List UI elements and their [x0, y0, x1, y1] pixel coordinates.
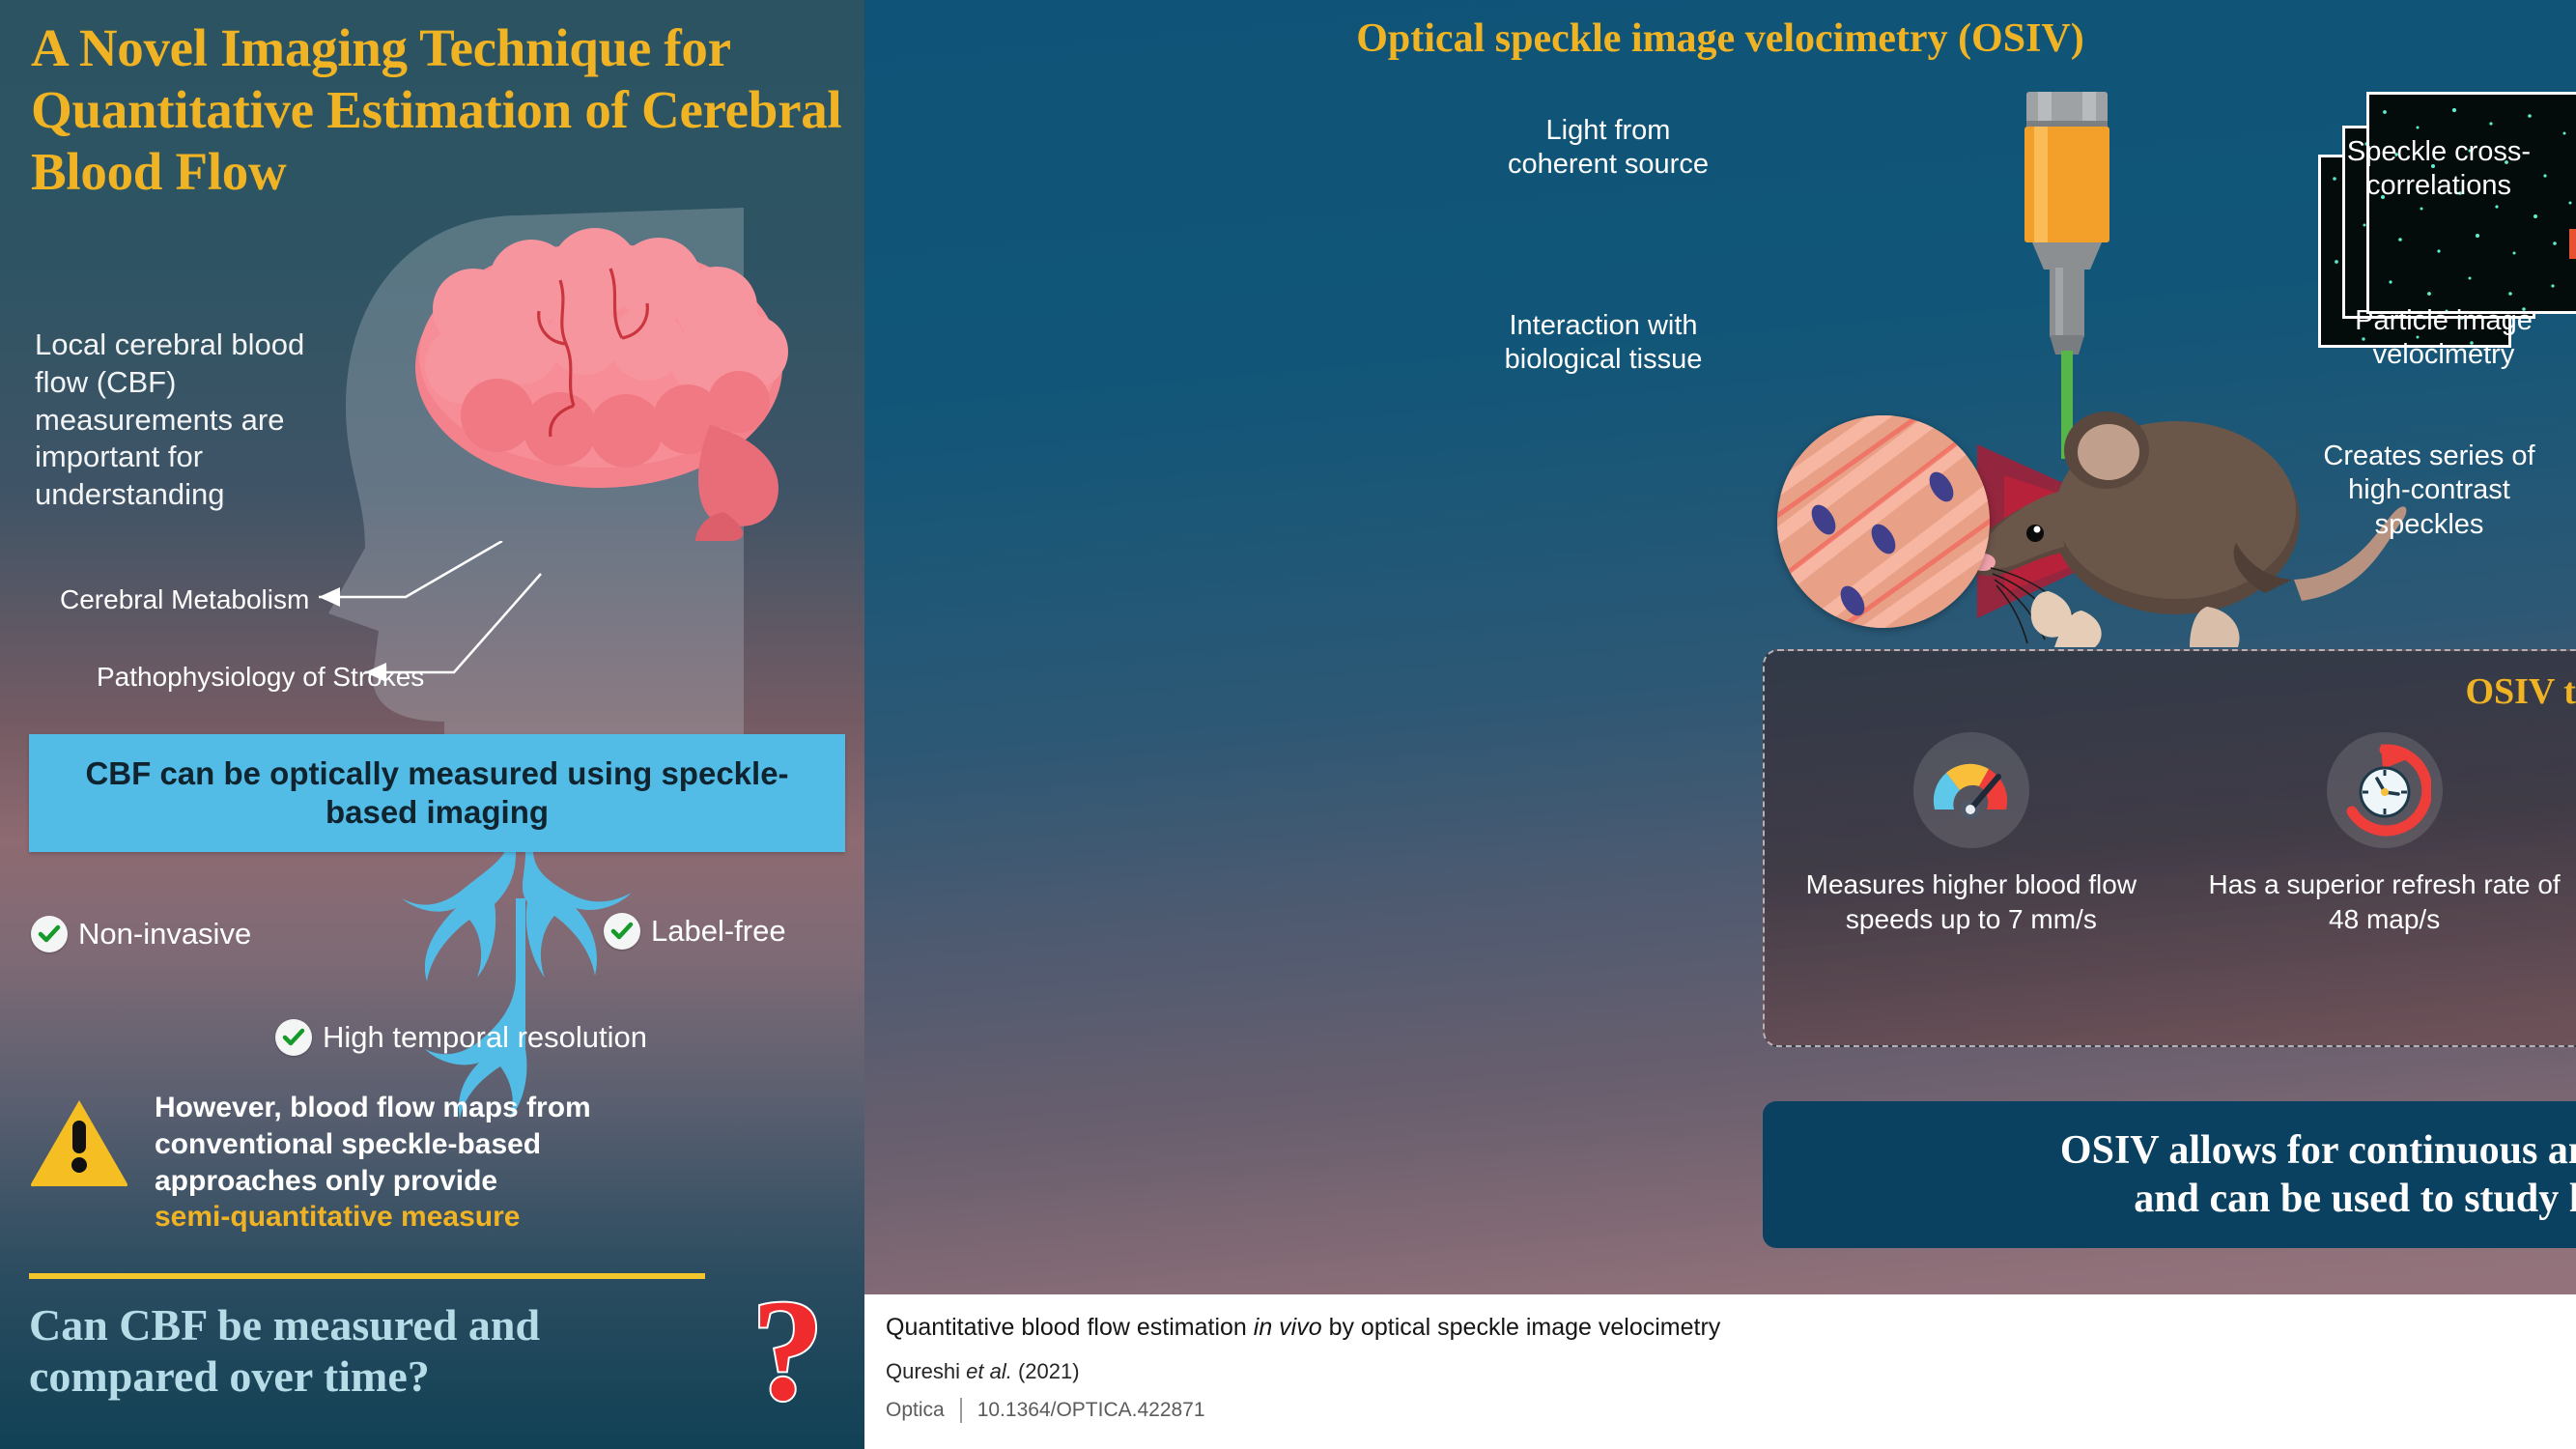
label-particle-image-velocimetry: Particle image velocimetry [2333, 304, 2555, 373]
citation-block: Quantitative blood flow estimation in vi… [886, 1312, 2141, 1423]
paper-title-pre: Quantitative blood flow estimation [886, 1314, 1254, 1341]
left-column: A Novel Imaging Technique for Quantitati… [0, 0, 864, 1449]
osiv-technique-title: OSIV technique [1765, 670, 2576, 713]
feature-label: Non-invasive [78, 917, 251, 952]
limitation-block: However, blood flow maps from convention… [29, 1090, 840, 1236]
conclusion-banner: OSIV allows for continuous and fast bloo… [1763, 1101, 2576, 1248]
cbf-callout-text: CBF can be optically measured using spec… [29, 754, 845, 833]
technique-caption: Has a superior refresh rate of 48 map/s [2192, 867, 2576, 937]
journal-line: Optica 10.1364/OPTICA.422871 [886, 1398, 2141, 1423]
infographic-page: A Novel Imaging Technique for Quantitati… [0, 0, 2576, 1449]
feature-non-invasive: Non-invasive [31, 916, 251, 952]
osiv-technique-items: Measures higher blood flow speeds up to … [1765, 732, 2576, 1041]
paper-title-italic: in vivo [1254, 1314, 1322, 1341]
paper-authors: Qureshi et al. (2021) [886, 1359, 2141, 1384]
technique-item: Measures higher blood flow speeds up to … [1778, 732, 2165, 937]
label-cerebral-metabolism: Cerebral Metabolism [60, 584, 309, 615]
label-pathophysiology-of-strokes: Pathophysiology of Strokes [97, 662, 424, 693]
svg-text:?: ? [751, 1285, 824, 1430]
question-mark-icon: ? [744, 1285, 850, 1430]
divider-rule [29, 1273, 705, 1279]
authors-pre: Qureshi [886, 1359, 966, 1383]
label-creates-series-of-high-contrast-speckles: Creates series of high-contrast speckles [2294, 440, 2564, 542]
leader-lines [0, 541, 864, 734]
paper-doi[interactable]: 10.1364/OPTICA.422871 [977, 1399, 1205, 1422]
biological-tissue-icon [1777, 415, 1990, 628]
osiv-section-title: Optical speckle image velocimetry (OSIV) [864, 15, 2576, 62]
brain-illustration-icon [406, 222, 821, 541]
clock-refresh-icon [2327, 732, 2443, 848]
limitation-highlight: semi-quantitative measure [155, 1199, 591, 1236]
limitation-line-3: approaches only provide [155, 1163, 591, 1200]
paper-title: Quantitative blood flow estimation in vi… [886, 1312, 2141, 1344]
limitation-line-2: conventional speckle-based [155, 1126, 591, 1163]
check-circle-icon [604, 913, 640, 950]
label-interaction-with-biological-tissue: Interaction with biological tissue [1483, 309, 1724, 378]
warning-triangle-icon [29, 1097, 129, 1188]
feature-label: Label-free [651, 914, 786, 949]
page-title: A Novel Imaging Technique for Quantitati… [31, 17, 852, 202]
check-circle-icon [275, 1019, 312, 1056]
conclusion-text: OSIV allows for continuous and fast bloo… [2041, 1126, 2576, 1224]
limitation-text: However, blood flow maps from convention… [155, 1090, 591, 1236]
check-circle-icon [31, 916, 68, 952]
label-light-from-coherent-source: Light from coherent source [1492, 114, 1724, 183]
feature-label: High temporal resolution [323, 1020, 647, 1055]
footer-citation-bar: Quantitative blood flow estimation in vi… [864, 1294, 2576, 1449]
feature-label-free: Label-free [604, 913, 786, 950]
authors-italic: et al. [966, 1359, 1012, 1383]
journal-name: Optica [886, 1399, 945, 1422]
technique-item: Has a superior refresh rate of 48 map/s [2192, 732, 2576, 937]
paper-title-post: by optical speckle image velocimetry [1322, 1314, 1721, 1341]
right-panel: Optical speckle image velocimetry (OSIV)… [864, 0, 2576, 1294]
label-speckle-cross-correlations: Speckle cross-correlations [2318, 135, 2560, 204]
feature-high-temporal-resolution: High temporal resolution [275, 1019, 647, 1056]
conclusion-line-2: and can be used to study healthy and dis… [2060, 1175, 2576, 1223]
authors-post: (2021) [1012, 1359, 1080, 1383]
journal-divider [960, 1398, 962, 1423]
conclusion-line-1: OSIV allows for continuous and fast bloo… [2060, 1126, 2576, 1175]
cbf-callout-banner: CBF can be optically measured using spec… [29, 734, 845, 852]
limitation-line-1: However, blood flow maps from [155, 1090, 591, 1126]
lead-paragraph: Local cerebral blood flow (CBF) measurem… [35, 327, 354, 514]
right-arrow-icon [2569, 208, 2576, 280]
technique-caption: Measures higher blood flow speeds up to … [1778, 867, 2165, 937]
speedometer-icon [1913, 732, 2029, 848]
osiv-technique-panel: OSIV technique Measures higher bloo [1763, 649, 2576, 1047]
research-question: Can CBF be measured and compared over ti… [29, 1299, 647, 1403]
